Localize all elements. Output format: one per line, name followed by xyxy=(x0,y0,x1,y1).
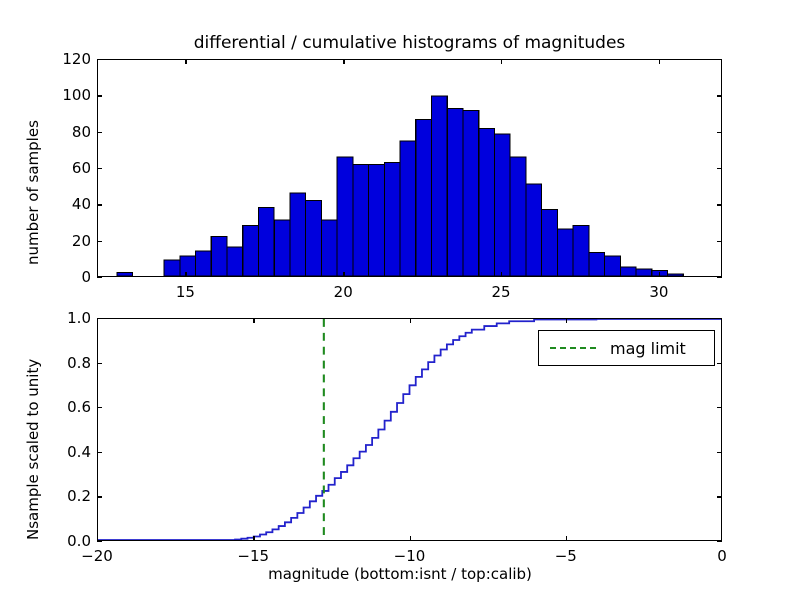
histogram-bar xyxy=(557,229,573,276)
histogram-bar xyxy=(353,164,369,276)
bottom-xtick-label: −15 xyxy=(223,547,283,565)
bottom-ytick-mark-right xyxy=(717,496,722,497)
bottom-ytick-mark-right xyxy=(717,541,722,542)
bottom-xtick-mark xyxy=(410,536,411,541)
histogram-bar xyxy=(180,256,196,276)
top-ytick-mark-right xyxy=(717,59,722,60)
bottom-xtick-mark xyxy=(566,536,567,541)
top-ytick-mark-right xyxy=(717,168,722,169)
top-y-axis-label: number of samples xyxy=(24,120,42,265)
top-ytick-mark xyxy=(97,204,102,205)
top-ytick-mark-right xyxy=(717,277,722,278)
top-ytick-mark-right xyxy=(717,204,722,205)
bottom-xtick-mark xyxy=(97,536,98,541)
histogram-bars xyxy=(98,60,721,276)
top-xtick-mark-top xyxy=(659,59,660,64)
bottom-ytick-mark-right xyxy=(717,407,722,408)
bottom-xtick-mark xyxy=(253,536,254,541)
top-xtick-mark xyxy=(343,272,344,277)
histogram-bar xyxy=(258,208,274,276)
bottom-xtick-label: −5 xyxy=(536,547,596,565)
top-ytick-mark xyxy=(97,277,102,278)
bottom-xtick-mark-top xyxy=(721,318,722,323)
top-ytick-label: 40 xyxy=(43,195,91,213)
top-xtick-mark-top xyxy=(343,59,344,64)
top-ytick-mark-right xyxy=(717,132,722,133)
legend-label-mag-limit: mag limit xyxy=(610,339,686,358)
histogram-bar xyxy=(636,269,652,276)
histogram-bar xyxy=(416,119,432,276)
histogram-bar xyxy=(306,200,322,276)
top-xtick-mark xyxy=(659,272,660,277)
histogram-bar xyxy=(384,163,400,276)
histogram-bar xyxy=(494,134,510,276)
top-ytick-label: 20 xyxy=(43,232,91,250)
bottom-ytick-mark xyxy=(97,452,102,453)
histogram-bar xyxy=(589,253,605,276)
histogram-bar xyxy=(164,260,180,276)
top-ytick-mark xyxy=(97,95,102,96)
top-ytick-label: 80 xyxy=(43,123,91,141)
histogram-bar xyxy=(400,141,416,276)
top-ytick-label: 60 xyxy=(43,159,91,177)
mag-limit-line-swatch xyxy=(550,347,596,349)
bottom-ytick-label: 0.6 xyxy=(39,398,91,416)
top-xtick-label: 20 xyxy=(313,283,373,301)
histogram-bar xyxy=(432,96,448,276)
bottom-xtick-mark-top xyxy=(566,318,567,323)
histogram-bar xyxy=(542,209,558,276)
top-ytick-label: 100 xyxy=(43,86,91,104)
top-ytick-label: 0 xyxy=(43,268,91,286)
histogram-bar xyxy=(117,272,133,276)
bottom-ytick-mark xyxy=(97,541,102,542)
bottom-xtick-mark-top xyxy=(253,318,254,323)
top-ytick-mark-right xyxy=(717,95,722,96)
bottom-ytick-label: 0.8 xyxy=(39,354,91,372)
bottom-ytick-label: 0.4 xyxy=(39,443,91,461)
bottom-xtick-label: −10 xyxy=(380,547,440,565)
top-xtick-mark xyxy=(185,272,186,277)
histogram-bar xyxy=(620,267,636,276)
histogram-bar xyxy=(227,247,243,276)
bottom-xtick-mark-top xyxy=(97,318,98,323)
bottom-xtick-mark xyxy=(721,536,722,541)
histogram-bar xyxy=(526,184,542,276)
top-ytick-label: 120 xyxy=(43,50,91,68)
bottom-xtick-label: −20 xyxy=(67,547,127,565)
legend[interactable]: mag limit xyxy=(538,330,715,366)
top-xtick-mark xyxy=(501,272,502,277)
histogram-bar xyxy=(479,128,495,276)
top-xtick-label: 30 xyxy=(629,283,689,301)
top-xtick-mark-top xyxy=(185,59,186,64)
histogram-bar xyxy=(243,226,259,276)
top-ytick-mark xyxy=(97,132,102,133)
figure-title: differential / cumulative histograms of … xyxy=(97,33,722,53)
top-ytick-mark xyxy=(97,168,102,169)
bottom-ytick-mark xyxy=(97,363,102,364)
histogram-bar xyxy=(337,157,353,276)
top-ytick-mark xyxy=(97,241,102,242)
histogram-bar xyxy=(447,109,463,276)
bottom-ytick-mark xyxy=(97,496,102,497)
top-ytick-mark xyxy=(97,59,102,60)
bottom-ytick-label: 1.0 xyxy=(39,309,91,327)
bottom-xtick-mark-top xyxy=(410,318,411,323)
histogram-bar xyxy=(463,110,479,276)
top-xtick-label: 15 xyxy=(155,283,215,301)
figure-canvas: differential / cumulative histograms of … xyxy=(0,0,800,600)
bottom-ytick-label: 0.2 xyxy=(39,487,91,505)
histogram-bar xyxy=(510,157,526,276)
bottom-ytick-mark xyxy=(97,407,102,408)
top-ytick-mark-right xyxy=(717,241,722,242)
histogram-bar xyxy=(605,256,621,276)
top-xtick-mark-top xyxy=(501,59,502,64)
histogram-bar xyxy=(321,220,337,276)
histogram-bar xyxy=(668,274,684,276)
histogram-bar xyxy=(274,220,290,276)
histogram-bar xyxy=(573,226,589,276)
bottom-xtick-label: 0 xyxy=(692,547,752,565)
bottom-ytick-mark-right xyxy=(717,452,722,453)
histogram-bar xyxy=(369,164,385,276)
histogram-bar xyxy=(290,193,306,276)
differential-histogram-axes[interactable] xyxy=(97,59,722,277)
top-xtick-label: 25 xyxy=(471,283,531,301)
bottom-x-axis-label: magnitude (bottom:isnt / top:calib) xyxy=(0,565,800,583)
histogram-bar xyxy=(196,251,212,276)
bottom-ytick-mark-right xyxy=(717,363,722,364)
top-plot-area xyxy=(98,60,721,276)
histogram-bar xyxy=(211,236,227,276)
